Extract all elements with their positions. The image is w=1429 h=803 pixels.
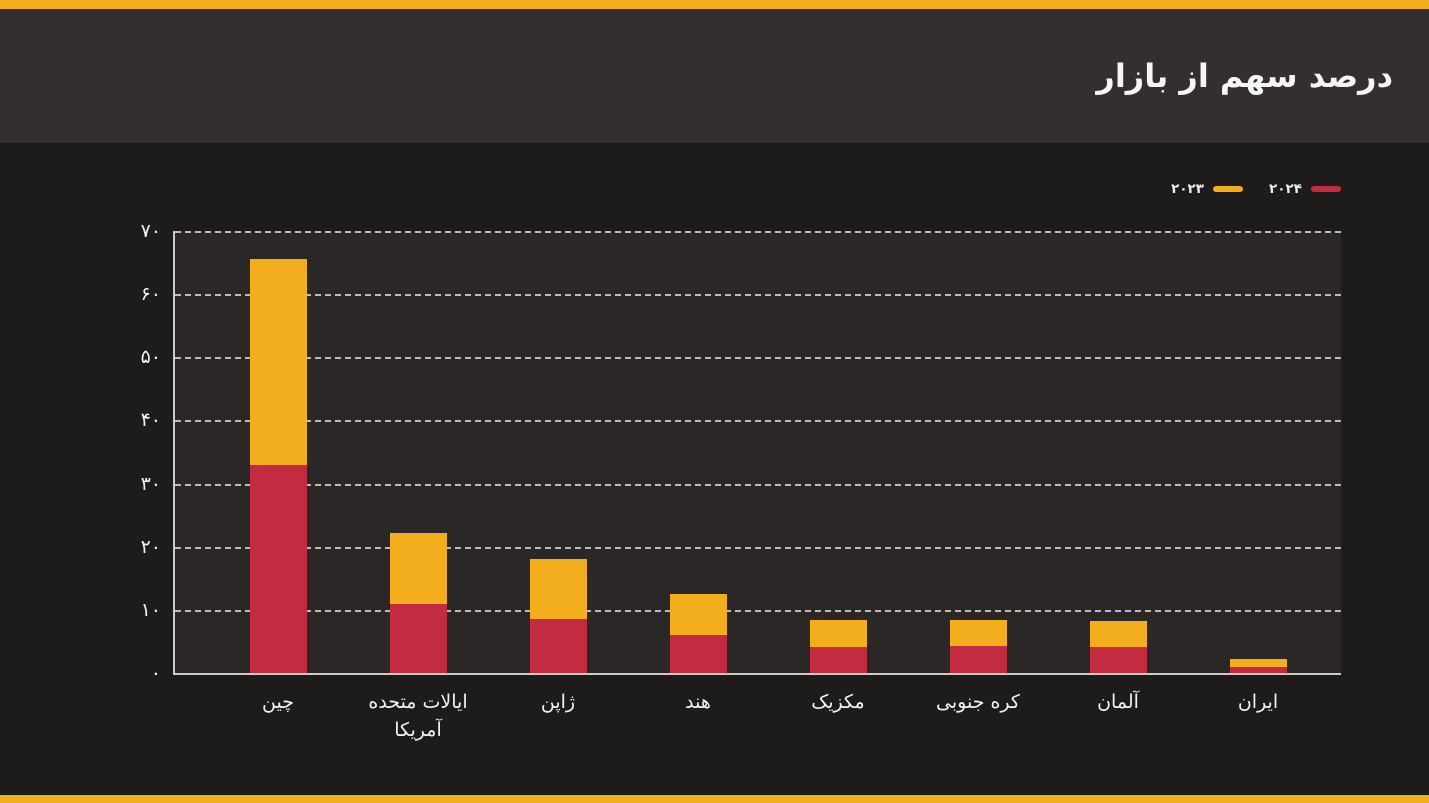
bar-segment-2023[interactable]	[390, 533, 447, 604]
y-axis-tick-label: ۱۰	[141, 599, 161, 621]
x-axis-label: هند	[623, 689, 773, 717]
bar-segment-2024[interactable]	[530, 619, 587, 673]
x-axis-label: ژاپن	[483, 689, 633, 717]
x-axis-label: مکزیک	[763, 689, 913, 717]
bar-group[interactable]: مکزیک	[810, 620, 867, 673]
bar-group[interactable]: کره جنوبی	[950, 620, 1007, 673]
x-axis-label: چین	[203, 689, 353, 717]
legend-item-series_2024[interactable]: ۲۰۲۴	[1269, 181, 1341, 197]
y-axis-tick-label: ۵۰	[141, 346, 161, 368]
bar-group[interactable]: ایران	[1230, 659, 1287, 673]
bar-segment-2023[interactable]	[950, 620, 1007, 647]
header-band: درصد سهم از بازار	[0, 9, 1429, 143]
bar-segment-2023[interactable]	[250, 259, 307, 464]
legend-label-series_2023: ۲۰۲۳	[1171, 181, 1204, 197]
y-axis-tick-label: ۶۰	[141, 283, 161, 305]
bar-segment-2024[interactable]	[1090, 647, 1147, 673]
bar-group[interactable]: هند	[670, 594, 727, 673]
x-axis-label: ایران	[1183, 689, 1333, 717]
page-title: درصد سهم از بازار	[1096, 57, 1393, 95]
y-axis-tick-label: ۴۰	[141, 409, 161, 431]
chart-stage: ۲۰۲۴۲۰۲۳ ۰۱۰۲۰۳۰۴۰۵۰۶۰۷۰چینایالات متحده …	[0, 143, 1429, 795]
gridline-20	[175, 547, 1341, 549]
x-axis-label: کره جنوبی	[903, 689, 1053, 717]
legend-swatch-series_2023	[1213, 186, 1243, 192]
gridline-10	[175, 610, 1341, 612]
bar-segment-2023[interactable]	[810, 620, 867, 647]
gridline-60	[175, 294, 1341, 296]
bar-segment-2023[interactable]	[530, 559, 587, 619]
bar-segment-2023[interactable]	[1090, 621, 1147, 648]
bar-segment-2024[interactable]	[390, 604, 447, 673]
x-axis-label: آلمان	[1043, 689, 1193, 717]
bar-segment-2023[interactable]	[670, 594, 727, 635]
bar-segment-2024[interactable]	[1230, 667, 1287, 673]
gridline-70	[175, 231, 1341, 233]
bottom-accent-bar	[0, 795, 1429, 803]
gridline-50	[175, 357, 1341, 359]
bar-segment-2024[interactable]	[670, 635, 727, 673]
y-axis-tick-label: ۷۰	[141, 220, 161, 242]
top-accent-bar	[0, 0, 1429, 9]
y-axis-tick-label: ۳۰	[141, 473, 161, 495]
legend-item-series_2023[interactable]: ۲۰۲۳	[1171, 181, 1243, 197]
legend-swatch-series_2024	[1311, 186, 1341, 192]
x-axis-label: ایالات متحده آمریکا	[343, 689, 493, 744]
bar-group[interactable]: آلمان	[1090, 621, 1147, 673]
bar-group[interactable]: چین	[250, 259, 307, 673]
gridline-40	[175, 420, 1341, 422]
chart-page: درصد سهم از بازار ۲۰۲۴۲۰۲۳ ۰۱۰۲۰۳۰۴۰۵۰۶۰…	[0, 0, 1429, 803]
y-axis-tick-label: ۰	[151, 662, 161, 684]
bar-segment-2024[interactable]	[250, 465, 307, 673]
plot-area: ۰۱۰۲۰۳۰۴۰۵۰۶۰۷۰چینایالات متحده آمریکاژاپ…	[173, 231, 1341, 675]
bar-group[interactable]: ژاپن	[530, 559, 587, 673]
bar-segment-2023[interactable]	[1230, 659, 1287, 667]
bar-group[interactable]: ایالات متحده آمریکا	[390, 533, 447, 673]
y-axis-tick-label: ۲۰	[141, 536, 161, 558]
bar-segment-2024[interactable]	[810, 647, 867, 673]
chart-legend: ۲۰۲۴۲۰۲۳	[1171, 181, 1341, 197]
gridline-30	[175, 484, 1341, 486]
legend-label-series_2024: ۲۰۲۴	[1269, 181, 1302, 197]
bar-segment-2024[interactable]	[950, 646, 1007, 673]
